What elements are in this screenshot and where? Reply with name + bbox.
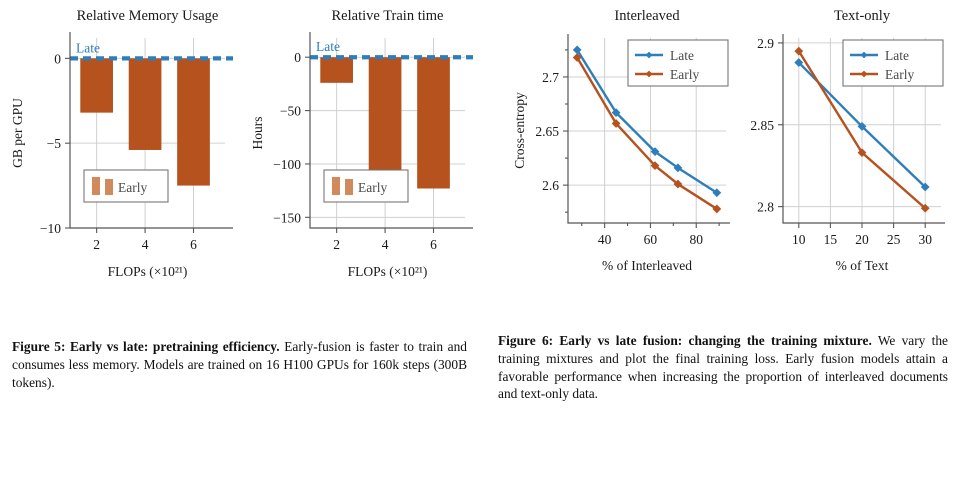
figure-5: Relative Memory UsageLate0−5−10246FLOPs …	[0, 0, 490, 330]
y-tick-label: 0	[294, 50, 301, 65]
chart-canvas-memory: Relative Memory UsageLate0−5−10246FLOPs …	[8, 0, 248, 320]
chart-title: Interleaved	[614, 8, 680, 24]
bar-early	[80, 58, 113, 112]
y-axis-label: GB per GPU	[10, 98, 25, 168]
bar-early	[129, 58, 162, 150]
chart-canvas-traintime: Relative Train timeLate0−50−100−150246FL…	[248, 0, 488, 320]
x-tick-label: 15	[824, 232, 838, 247]
baseline-late-label: Late	[316, 39, 340, 54]
chart-relative-train-time: Relative Train timeLate0−50−100−150246FL…	[248, 0, 488, 320]
y-tick-label: 2.7	[542, 70, 559, 85]
x-tick-label: 4	[142, 237, 149, 252]
chart-interleaved: Interleaved2.72.652.6406080% of Interlea…	[510, 0, 750, 320]
figure-6-caption: Figure 6: Early vs late fusion: changing…	[498, 332, 948, 403]
x-tick-label: 80	[689, 232, 703, 247]
legend-swatch-early-a	[332, 177, 340, 195]
x-tick-label: 25	[887, 232, 901, 247]
y-tick-label: −150	[273, 210, 301, 225]
chart-relative-memory-usage: Relative Memory UsageLate0−5−10246FLOPs …	[8, 0, 248, 320]
y-tick-label: 0	[54, 51, 61, 66]
x-tick-label: 2	[93, 237, 100, 252]
legend-label-late: Late	[670, 48, 694, 63]
x-tick-label: 2	[333, 237, 340, 252]
y-tick-label: 2.8	[757, 200, 774, 215]
legend-label-early: Early	[670, 67, 699, 82]
chart-title: Relative Memory Usage	[77, 8, 219, 24]
y-axis-label: Cross-entropy	[512, 92, 527, 169]
x-tick-label: 30	[918, 232, 932, 247]
chart-title: Text-only	[834, 8, 891, 24]
chart-canvas-interleaved: Interleaved2.72.652.6406080% of Interlea…	[510, 0, 750, 320]
x-tick-label: 10	[792, 232, 806, 247]
x-tick-label: 60	[644, 232, 658, 247]
x-tick-label: 6	[430, 237, 437, 252]
baseline-late-label: Late	[76, 40, 100, 55]
y-tick-label: 2.6	[542, 178, 559, 193]
figure-5-caption-bold: Figure 5: Early vs late: pretraining eff…	[12, 339, 280, 354]
figure-5-charts: Relative Memory UsageLate0−5−10246FLOPs …	[0, 0, 490, 330]
x-tick-label: 4	[382, 237, 389, 252]
figure-6-charts: Interleaved2.72.652.6406080% of Interlea…	[490, 0, 960, 330]
figure-5-caption: Figure 5: Early vs late: pretraining eff…	[12, 338, 467, 391]
x-axis-label: % of Interleaved	[602, 258, 692, 273]
x-axis-label: % of Text	[836, 258, 889, 273]
x-tick-label: 20	[855, 232, 869, 247]
legend-swatch-early-b	[105, 179, 113, 195]
bar-early	[369, 57, 402, 170]
y-tick-label: −5	[47, 136, 62, 151]
chart-text-only: Text-only2.92.852.81015202530% of TextLa…	[735, 0, 960, 320]
legend-label-early: Early	[885, 67, 914, 82]
y-tick-label: 2.85	[750, 118, 774, 133]
figure-page: Relative Memory UsageLate0−5−10246FLOPs …	[0, 0, 960, 491]
x-tick-label: 40	[598, 232, 612, 247]
x-axis-label: FLOPs (×10²¹)	[108, 264, 188, 279]
legend-label-late: Late	[885, 48, 909, 63]
x-tick-label: 6	[190, 237, 197, 252]
bar-early	[177, 58, 210, 185]
y-axis-label: Hours	[250, 117, 265, 150]
y-tick-label: −100	[273, 157, 301, 172]
chart-canvas-textonly: Text-only2.92.852.81015202530% of TextLa…	[735, 0, 960, 320]
legend-label-early: Early	[358, 180, 387, 195]
y-tick-label: 2.9	[757, 36, 774, 51]
figure-6: Interleaved2.72.652.6406080% of Interlea…	[490, 0, 960, 330]
legend-swatch-early-b	[345, 179, 353, 195]
chart-title: Relative Train time	[332, 8, 444, 24]
legend-label-early: Early	[118, 180, 147, 195]
figure-6-caption-bold: Figure 6: Early vs late fusion: changing…	[498, 333, 872, 348]
bar-early	[417, 57, 450, 188]
y-tick-label: −10	[40, 221, 61, 236]
y-tick-label: 2.65	[535, 124, 559, 139]
y-tick-label: −50	[280, 104, 301, 119]
legend-swatch-early-a	[92, 177, 100, 195]
x-axis-label: FLOPs (×10²¹)	[348, 264, 428, 279]
bar-early	[320, 57, 353, 83]
